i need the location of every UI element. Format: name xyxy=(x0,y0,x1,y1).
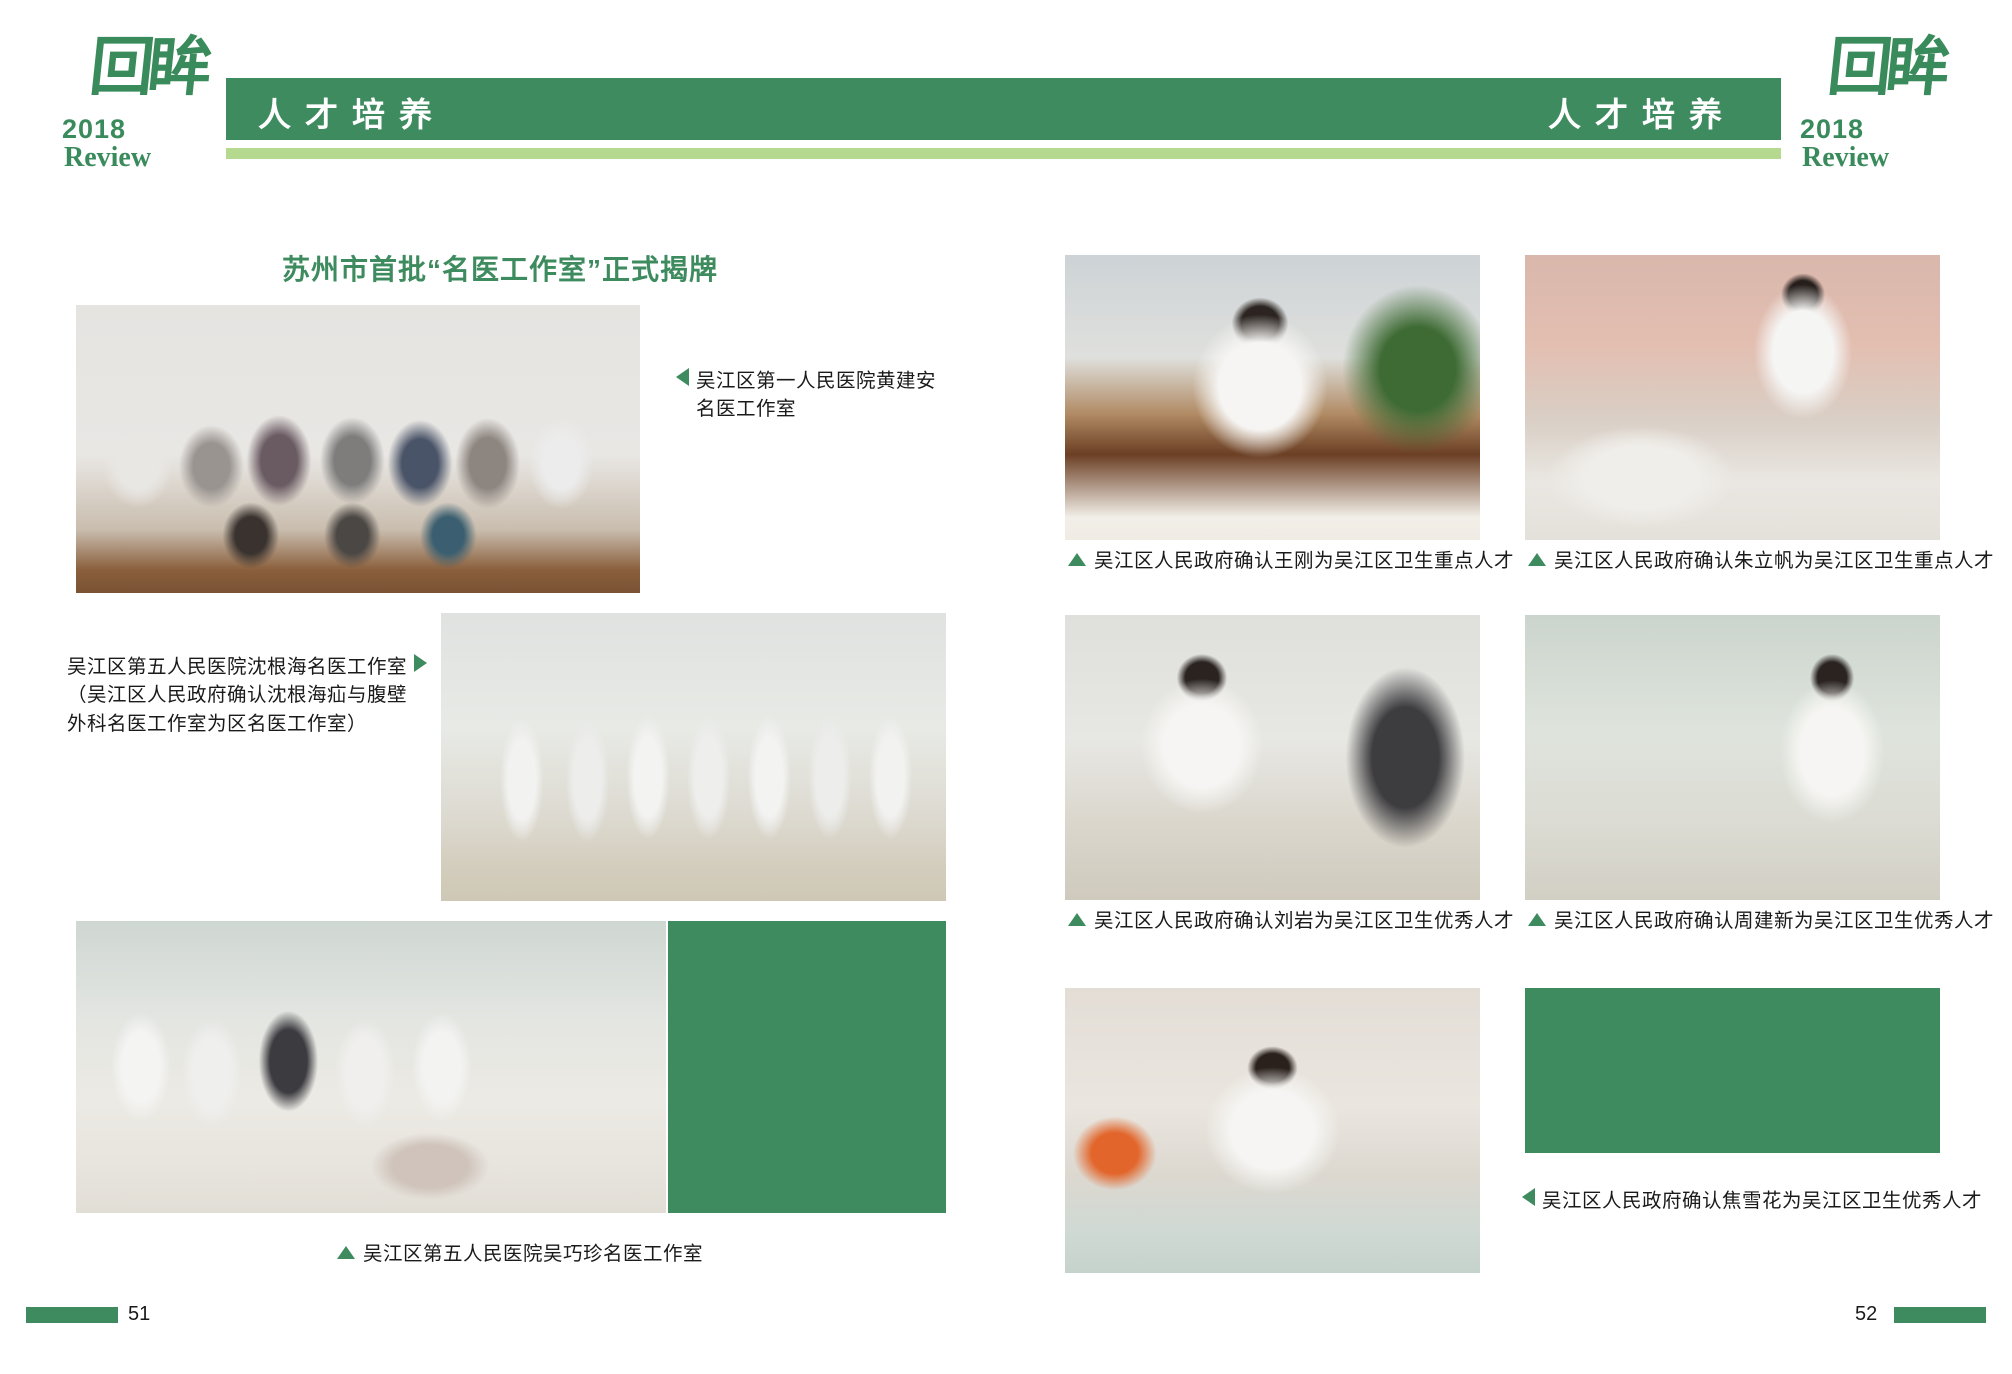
triangle-left-icon xyxy=(676,368,689,386)
caption-zhu-lifan: 吴江区人民政府确认朱立帆为吴江区卫生重点人才 xyxy=(1528,547,1994,575)
triangle-right-icon xyxy=(414,654,427,672)
photo-zhu-lifan xyxy=(1525,255,1940,540)
section-title: 苏州市首批“名医工作室”正式揭牌 xyxy=(282,248,718,288)
photo-zhou-jianxin xyxy=(1525,615,1940,900)
brand-logo-review: Review xyxy=(64,142,151,174)
triangle-up-icon xyxy=(1068,913,1086,926)
brand-logo-year: 2018 xyxy=(1800,114,1864,145)
green-placeholder-block-right xyxy=(1525,988,1940,1153)
caption-liu-yan: 吴江区人民政府确认刘岩为吴江区卫生优秀人才 xyxy=(1068,907,1514,935)
magazine-spread: 回眸 2018 Review 人才培养 人才培养 回眸 2018 Review … xyxy=(0,0,2012,1374)
photo-liu-yan xyxy=(1065,615,1480,900)
caption-line-2: （吴江区人民政府确认沈根海疝与腹壁 xyxy=(67,681,427,709)
header-title-left: 人才培养 xyxy=(258,88,446,136)
footer-rule-left xyxy=(26,1307,118,1323)
photo-shengenhai-studio xyxy=(441,613,946,901)
header-title-right: 人才培养 xyxy=(1548,88,1736,136)
caption-line-2: 名医工作室 xyxy=(696,395,936,423)
photo-jiao-xuehua xyxy=(1065,988,1480,1273)
triangle-left-icon xyxy=(1522,1188,1535,1206)
triangle-up-icon xyxy=(337,1246,355,1259)
photo-huangjianan-studio xyxy=(76,305,640,593)
caption-zhou-jianxin: 吴江区人民政府确认周建新为吴江区卫生优秀人才 xyxy=(1528,907,1994,935)
brand-logo-right: 回眸 2018 Review xyxy=(1800,38,1950,178)
triangle-up-icon xyxy=(1528,913,1546,926)
caption-line-1: 吴江区第五人民医院沈根海名医工作室 xyxy=(67,653,427,681)
page-number-left: 51 xyxy=(128,1303,150,1326)
header-underline-right xyxy=(1236,148,1781,159)
brand-logo-left: 回眸 2018 Review xyxy=(62,38,212,178)
green-placeholder-block-left xyxy=(668,921,946,1213)
caption-line-3: 外科名医工作室为区名医工作室） xyxy=(67,710,427,738)
triangle-up-icon xyxy=(1528,553,1546,566)
caption-huangjianan-studio: 吴江区第一人民医院黄建安 名医工作室 xyxy=(676,367,936,424)
footer-rule-right xyxy=(1894,1307,1986,1323)
brand-logo-review: Review xyxy=(1802,142,1889,174)
photo-wang-gang xyxy=(1065,255,1480,540)
caption-wang-gang: 吴江区人民政府确认王刚为吴江区卫生重点人才 xyxy=(1068,547,1514,575)
caption-shengenhai-studio: 吴江区第五人民医院沈根海名医工作室 （吴江区人民政府确认沈根海疝与腹壁 外科名医… xyxy=(67,653,427,738)
header-underline-left xyxy=(226,148,1236,159)
caption-wuqiaozhen-studio: 吴江区第五人民医院吴巧珍名医工作室 xyxy=(337,1240,703,1268)
page-header: 回眸 2018 Review 人才培养 人才培养 回眸 2018 Review xyxy=(0,0,2012,200)
triangle-up-icon xyxy=(1068,553,1086,566)
brand-logo-year: 2018 xyxy=(62,114,126,145)
page-number-right: 52 xyxy=(1855,1303,1877,1326)
caption-jiao-xuehua: 吴江区人民政府确认焦雪花为吴江区卫生优秀人才 xyxy=(1522,1187,1982,1215)
caption-line-1: 吴江区第一人民医院黄建安 xyxy=(696,370,936,392)
photo-wuqiaozhen-studio xyxy=(76,921,666,1213)
